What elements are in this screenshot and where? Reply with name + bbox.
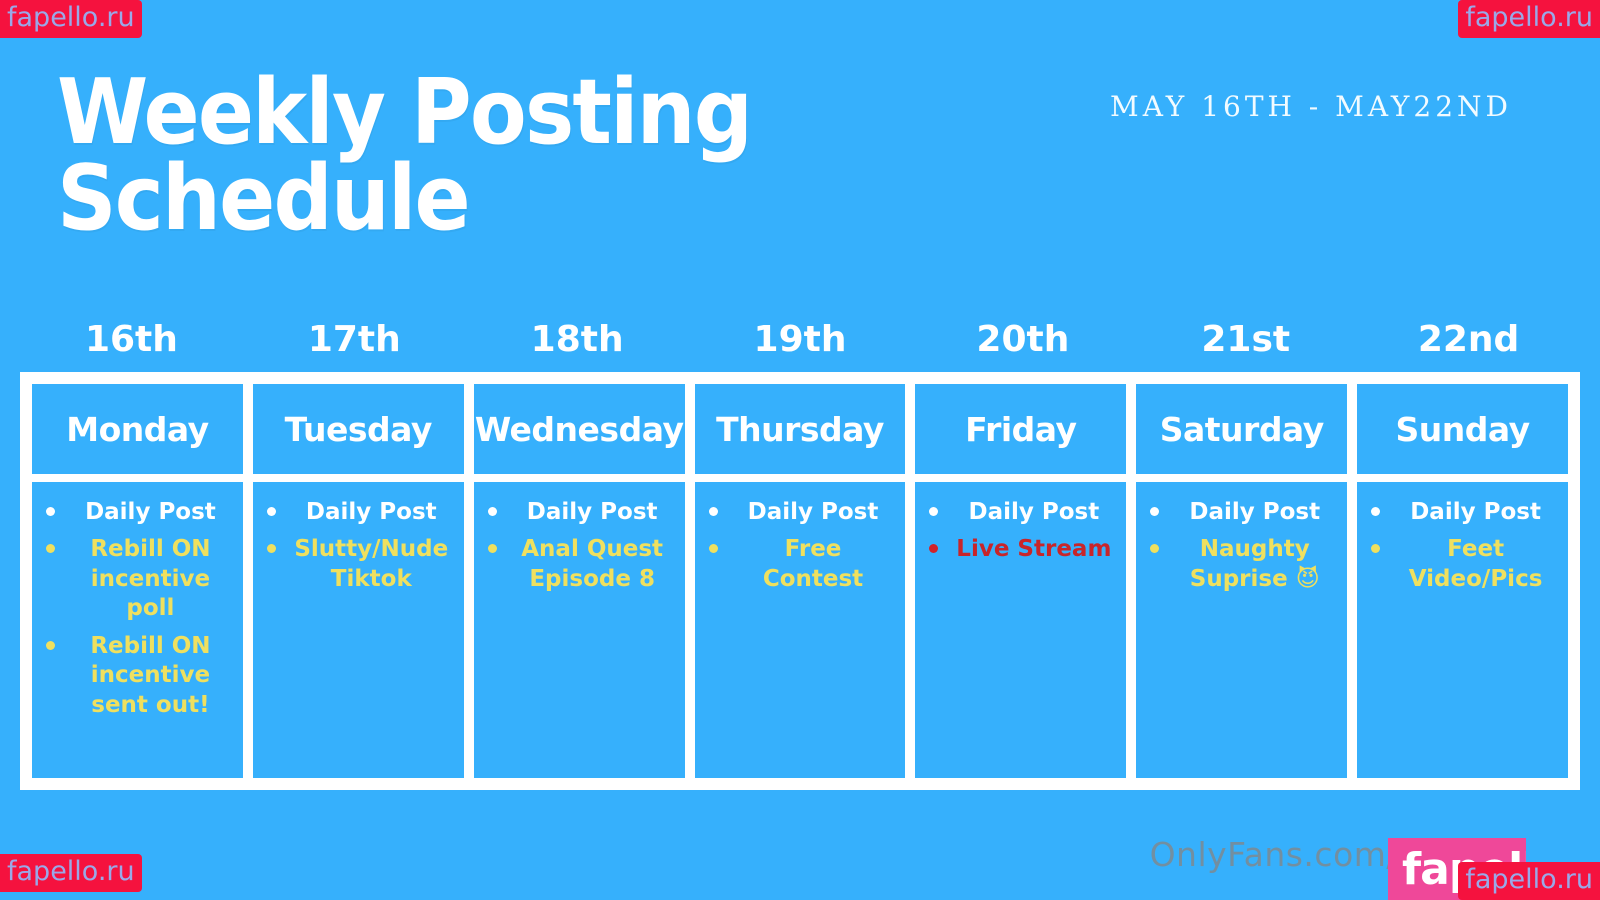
bullet-icon [709,544,718,553]
list-item-label: Feet Video/Pics [1409,536,1543,591]
date-label-2: 18th [466,322,689,358]
day-content-row: Daily PostRebill ON incentive pollRebill… [32,482,1568,778]
list-item[interactable]: Daily Post [925,498,1116,527]
list-item-label: Rebill ON incentive poll [90,536,210,621]
bullet-icon [267,544,276,553]
list-item-label: Daily Post [969,499,1100,525]
task-list: Daily PostNaughty Suprise 😈 [1136,482,1347,594]
task-list: Daily PostLive Stream [915,482,1126,565]
day-content-tuesday[interactable]: Daily PostSlutty/Nude Tiktok [253,482,464,778]
day-content-thursday[interactable]: Daily PostFree Contest [695,482,906,778]
list-item-label: Daily Post [1410,499,1541,525]
task-list: Daily PostAnal Quest Episode 8 [474,482,685,594]
list-item-label: Rebill ON incentive sent out! [90,633,210,718]
day-name-label: Friday [915,384,1126,474]
watermark-bottom-left: fapello.ru [0,854,142,892]
bullet-icon [46,544,55,553]
list-item-label: Naughty Suprise 😈 [1190,536,1320,591]
bullet-icon [267,507,276,516]
list-item[interactable]: Naughty Suprise 😈 [1146,535,1337,594]
list-item-label: Slutty/Nude Tiktok [294,536,448,591]
bullet-icon [1150,544,1159,553]
list-item-label: Daily Post [306,499,437,525]
day-content-sunday[interactable]: Daily PostFeet Video/Pics [1357,482,1568,778]
bullet-icon [929,544,938,553]
date-label-6: 22nd [1357,322,1580,358]
day-header-tuesday[interactable]: Tuesday [253,384,464,474]
list-item-label: Live Stream [956,536,1111,562]
list-item[interactable]: Rebill ON incentive sent out! [42,632,233,720]
list-item-label: Anal Quest Episode 8 [521,536,663,591]
task-list: Daily PostSlutty/Nude Tiktok [253,482,464,594]
day-content-wednesday[interactable]: Daily PostAnal Quest Episode 8 [474,482,685,778]
bullet-icon [488,544,497,553]
day-header-thursday[interactable]: Thursday [695,384,906,474]
day-header-saturday[interactable]: Saturday [1136,384,1347,474]
dates-row: 16th17th18th19th20th21st22nd [20,322,1580,358]
list-item[interactable]: Daily Post [1367,498,1558,527]
day-name-label: Thursday [695,384,906,474]
date-label-3: 19th [689,322,912,358]
list-item[interactable]: Anal Quest Episode 8 [484,535,675,594]
bullet-icon [46,507,55,516]
day-header-wednesday[interactable]: Wednesday [474,384,685,474]
bullet-icon [1371,507,1380,516]
task-list: Daily PostRebill ON incentive pollRebill… [32,482,243,720]
day-name-label: Monday [32,384,243,474]
list-item[interactable]: Rebill ON incentive poll [42,535,233,623]
list-item[interactable]: Daily Post [263,498,454,527]
bullet-icon [1371,544,1380,553]
list-item-label: Daily Post [1189,499,1320,525]
list-item[interactable]: Feet Video/Pics [1367,535,1558,594]
bullet-icon [1150,507,1159,516]
list-item-label: Daily Post [85,499,216,525]
day-name-label: Saturday [1136,384,1347,474]
list-item[interactable]: Daily Post [42,498,233,527]
list-item[interactable]: Daily Post [1146,498,1337,527]
list-item[interactable]: Live Stream [925,535,1116,564]
bullet-icon [488,507,497,516]
day-header-monday[interactable]: Monday [32,384,243,474]
list-item-label: Free Contest [763,536,863,591]
watermark-top-left: fapello.ru [0,0,142,38]
date-range-label: MAY 16TH - MAY22ND [1110,90,1512,123]
bullet-icon [929,507,938,516]
task-list: Daily PostFree Contest [695,482,906,594]
bullet-icon [709,507,718,516]
page-title: Weekly Posting Schedule [57,70,751,241]
bullet-icon [46,641,55,650]
day-name-label: Tuesday [253,384,464,474]
watermark-top-right: fapello.ru [1458,0,1600,38]
task-list: Daily PostFeet Video/Pics [1357,482,1568,594]
list-item[interactable]: Daily Post [484,498,675,527]
day-name-label: Sunday [1357,384,1568,474]
day-content-friday[interactable]: Daily PostLive Stream [915,482,1126,778]
watermark-bottom-right: fapello.ru [1458,862,1600,900]
list-item[interactable]: Free Contest [705,535,896,594]
day-content-monday[interactable]: Daily PostRebill ON incentive pollRebill… [32,482,243,778]
list-item-label: Daily Post [527,499,658,525]
date-label-1: 17th [243,322,466,358]
date-label-4: 20th [911,322,1134,358]
list-item-label: Daily Post [748,499,879,525]
date-label-0: 16th [20,322,243,358]
list-item[interactable]: Slutty/Nude Tiktok [263,535,454,594]
day-name-label: Wednesday [474,384,685,474]
schedule-table: MondayTuesdayWednesdayThursdayFridaySatu… [20,372,1580,790]
day-name-row: MondayTuesdayWednesdayThursdayFridaySatu… [32,384,1568,474]
day-content-saturday[interactable]: Daily PostNaughty Suprise 😈 [1136,482,1347,778]
list-item[interactable]: Daily Post [705,498,896,527]
day-header-friday[interactable]: Friday [915,384,1126,474]
day-header-sunday[interactable]: Sunday [1357,384,1568,474]
date-label-5: 21st [1134,322,1357,358]
